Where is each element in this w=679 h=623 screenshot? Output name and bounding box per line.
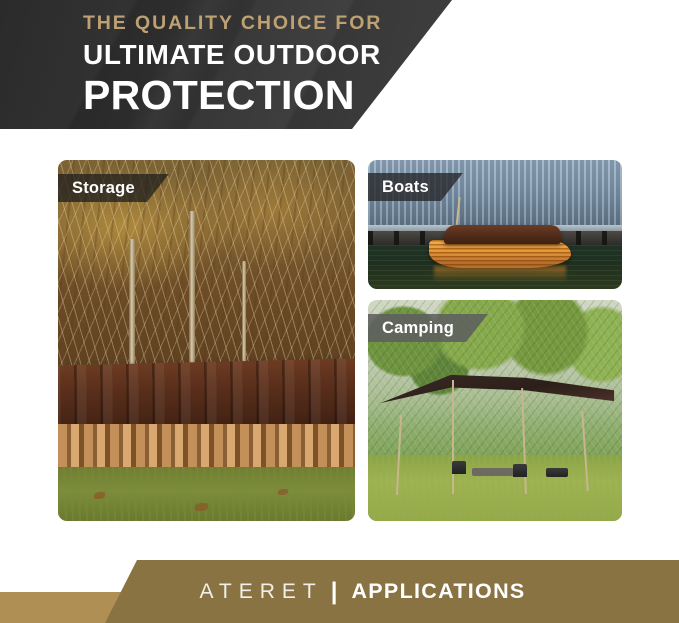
camping-table xyxy=(472,468,514,476)
boats-hull-planking xyxy=(429,240,571,268)
headline-kicker: THE QUALITY CHOICE FOR xyxy=(83,14,503,34)
storage-fallen-leaf xyxy=(195,503,208,511)
boats-water-reflection xyxy=(434,266,566,283)
footer-banner: ATERET | APPLICATIONS xyxy=(0,560,679,623)
header-text-block: THE QUALITY CHOICE FOR ULTIMATE OUTDOOR … xyxy=(83,14,503,116)
storage-fallen-leaf xyxy=(278,489,288,495)
header-banner: THE QUALITY CHOICE FOR ULTIMATE OUTDOOR … xyxy=(0,0,679,129)
photo-panel-camping: Camping xyxy=(368,300,622,521)
camping-cot xyxy=(546,468,568,477)
footer-section-title: APPLICATIONS xyxy=(351,579,525,604)
footer-separator: | xyxy=(331,580,338,604)
storage-tree-trunk xyxy=(189,211,195,384)
panel-label-text: Camping xyxy=(382,319,454,338)
headline-secondary: ULTIMATE OUTDOOR xyxy=(83,41,503,69)
camping-tarp-pole xyxy=(452,380,454,495)
photo-panel-boats: Boats xyxy=(368,160,622,289)
camping-chair xyxy=(513,464,527,477)
panel-label-text: Boats xyxy=(382,178,429,197)
boats-brown-boat-cover xyxy=(444,225,561,244)
camping-chair xyxy=(452,461,466,474)
panel-label-text: Storage xyxy=(72,179,135,198)
storage-photo xyxy=(58,160,355,521)
storage-fallen-leaf xyxy=(94,492,105,499)
headline-primary: PROTECTION xyxy=(83,75,503,116)
photo-panel-storage: Storage xyxy=(58,160,355,521)
footer-text-block: ATERET | APPLICATIONS xyxy=(0,560,679,623)
camping-grass-field xyxy=(368,455,622,521)
boats-wooden-hull xyxy=(429,240,571,268)
product-infographic: THE QUALITY CHOICE FOR ULTIMATE OUTDOOR … xyxy=(0,0,679,623)
brand-name: ATERET xyxy=(199,580,322,604)
